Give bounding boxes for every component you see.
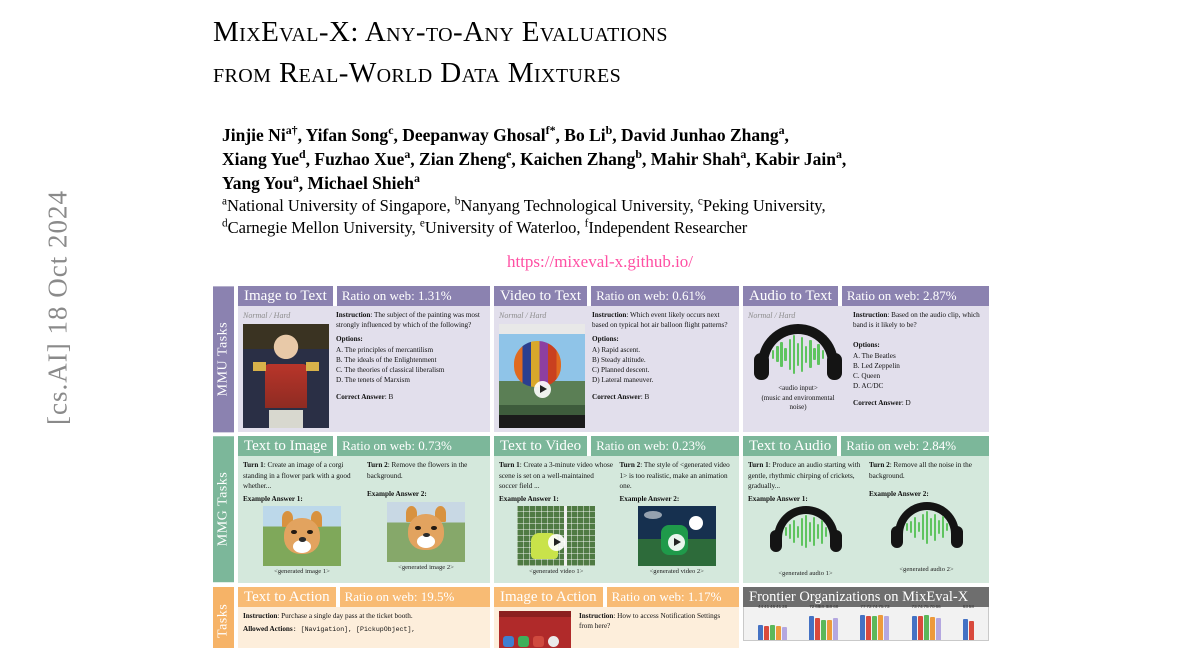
bar-wrap: 63 — [963, 610, 968, 640]
painting-image — [243, 324, 329, 428]
panel-title-text-to-action: Text to Action — [238, 587, 336, 607]
difficulty-label: Normal / Hard — [748, 310, 848, 321]
panel-text-to-action[interactable]: Text to Action Ratio on web: 19.5% Instr… — [238, 587, 490, 648]
play-icon[interactable] — [534, 381, 551, 398]
option-item: A. The principles of mercantilism — [336, 345, 485, 355]
panel-title-text-to-audio: Text to Audio — [743, 436, 837, 456]
bar-wrap: 74 — [872, 610, 877, 640]
panel-ratio-text-to-video: Ratio on web: 0.23% — [591, 436, 739, 456]
bar-wrap: 74 — [918, 610, 923, 640]
row-label-mmu: MMU Tasks — [213, 286, 234, 432]
panel-ratio-text-to-action: Ratio on web: 19.5% — [340, 587, 490, 607]
bar-value-label: 73 — [912, 605, 917, 610]
panel-frontier-organizations[interactable]: Frontier Organizations on MixEval-X 4441… — [743, 587, 989, 648]
option-item: C. The theories of classical liberalism — [336, 365, 485, 375]
generated-video-2[interactable] — [638, 506, 716, 566]
bar-value-label: 75 — [924, 605, 929, 610]
bar-wrap: 44 — [758, 610, 763, 640]
instruction-label: Instruction — [243, 612, 277, 620]
bar-wrap: 68 — [815, 610, 820, 640]
answer-text: : D — [902, 399, 911, 407]
panel-text-to-video[interactable]: Text to Video Ratio on web: 0.23% Turn 1… — [494, 436, 739, 582]
title-line-2: from Real-World Data Mixtures — [213, 53, 973, 94]
title-line-1: MixEval-X: Any-to-Any Evaluations — [213, 12, 973, 53]
row-label-mmg: MMG Tasks — [213, 436, 234, 582]
figure-row-agent: Tasks Text to Action Ratio on web: 19.5%… — [213, 587, 990, 648]
bar-value-label: 44 — [758, 605, 763, 610]
generated-image-1-caption: <generated image 1> — [243, 567, 361, 576]
panel-ratio-image-to-action: Ratio on web: 1.17% — [607, 587, 739, 607]
bar-wrap: 59 — [827, 610, 832, 640]
panel-title-audio-to-text: Audio to Text — [743, 286, 838, 306]
instruction-label: Instruction — [579, 612, 613, 620]
bar — [969, 621, 974, 640]
bar-group: 4441464138 — [758, 610, 787, 640]
generated-audio-1-caption: <generated audio 1> — [748, 569, 863, 578]
option-item: B) Steady altitude. — [592, 355, 734, 365]
bar-group: 7374757066 — [912, 610, 941, 640]
option-item: D. The tenets of Marxism — [336, 375, 485, 385]
allowed-actions-text: : [Navigation], [PickupObject], — [293, 626, 416, 633]
instruction-label: Instruction — [853, 311, 887, 319]
option-item: D. AC/DC — [853, 381, 984, 391]
bar-wrap: 72 — [866, 610, 871, 640]
figure-row-mmu: MMU Tasks Image to Text Ratio on web: 1.… — [213, 286, 990, 432]
author-line: Yang Youa, Michael Shieha — [222, 171, 982, 195]
bar — [878, 615, 883, 639]
panel-audio-to-text[interactable]: Audio to Text Ratio on web: 2.87% Normal… — [743, 286, 989, 432]
project-url-link[interactable]: https://mixeval-x.github.io/ — [0, 252, 1200, 272]
bar-value-label: 68 — [833, 605, 838, 610]
generated-video-1[interactable] — [517, 506, 595, 566]
bar-value-label: 72 — [866, 605, 871, 610]
bar-value-label: 66 — [936, 605, 941, 610]
bar-group: 7772747573 — [860, 610, 889, 640]
bar-wrap: 73 — [912, 610, 917, 640]
bar-group: 6358 — [963, 610, 974, 640]
panel-image-to-action[interactable]: Image to Action Ratio on web: 1.17% — [494, 587, 739, 648]
bar — [776, 626, 781, 639]
paper-page: [cs.AI] 18 Oct 2024 MixEval-X: Any-to-An… — [0, 0, 1200, 648]
allowed-actions-label: Allowed Actions — [243, 625, 293, 633]
panel-ratio-text-to-image: Ratio on web: 0.73% — [337, 436, 490, 456]
example-answer-1-label: Example Answer 1: — [499, 494, 614, 504]
bar-value-label: 63 — [963, 605, 968, 610]
bar — [884, 616, 889, 640]
generated-audio-2-caption: <generated audio 2> — [869, 565, 984, 574]
answer-text: : B — [385, 393, 394, 401]
option-item: A. The Beatles — [853, 351, 984, 361]
bar — [833, 618, 838, 640]
bar — [827, 620, 832, 639]
bar-value-label: 77 — [860, 605, 865, 610]
bar — [872, 616, 877, 640]
options-label: Options: — [853, 340, 984, 350]
bar — [758, 625, 763, 639]
author-line: Xiang Yued, Fuzhao Xuea, Zian Zhenge, Ka… — [222, 147, 982, 171]
bar-value-label: 46 — [770, 605, 775, 610]
bar-value-label: 74 — [918, 605, 923, 610]
video-thumbnail[interactable] — [499, 324, 585, 428]
turn1-label: Turn 1 — [243, 461, 264, 469]
bar — [815, 618, 820, 640]
bar — [809, 616, 814, 639]
bar-wrap: 41 — [764, 610, 769, 640]
figure-row-mmg: MMG Tasks Text to Image Ratio on web: 0.… — [213, 436, 990, 582]
generated-image-2-caption: <generated image 2> — [367, 563, 485, 572]
bar — [930, 617, 935, 640]
option-item: D) Lateral maneuver. — [592, 375, 734, 385]
example-answer-2-label: Example Answer 2: — [367, 489, 485, 499]
bar-value-label: 58 — [969, 605, 974, 610]
bar-value-label: 72 — [809, 605, 814, 610]
example-answer-1-label: Example Answer 1: — [243, 494, 361, 504]
bar — [770, 625, 775, 640]
panel-title-video-to-text: Video to Text — [494, 286, 587, 306]
bar — [912, 616, 917, 640]
turn2-label: Turn 2 — [620, 461, 641, 469]
frontier-bar-chart: 4441464138726859.55968777274757373747570… — [743, 607, 989, 641]
bar — [860, 615, 865, 640]
bar-wrap: 77 — [860, 610, 865, 640]
bar-wrap: 41 — [776, 610, 781, 640]
answer-label: Correct Answer — [592, 393, 641, 401]
panel-ratio-image-to-text: Ratio on web: 1.31% — [337, 286, 490, 306]
affiliation-line: dCarnegie Mellon University, eUniversity… — [222, 217, 982, 238]
bar-wrap: 72 — [809, 610, 814, 640]
generated-audio-2[interactable] — [888, 502, 966, 564]
panel-text-to-image[interactable]: Text to Image Ratio on web: 0.73% Turn 1… — [238, 436, 490, 582]
overview-figure: MMU Tasks Image to Text Ratio on web: 1.… — [213, 286, 990, 648]
turn2-label: Turn 2 — [869, 461, 890, 469]
page-title: MixEval-X: Any-to-Any Evaluations from R… — [213, 12, 973, 94]
bar-wrap: 59.5 — [821, 610, 826, 640]
difficulty-label: Normal / Hard — [499, 310, 587, 321]
bar — [963, 619, 968, 639]
panel-ratio-video-to-text: Ratio on web: 0.61% — [591, 286, 739, 306]
panel-video-to-text[interactable]: Video to Text Ratio on web: 0.61% Normal… — [494, 286, 739, 432]
answer-label: Correct Answer — [336, 393, 385, 401]
bar — [918, 616, 923, 640]
answer-label: Correct Answer — [853, 399, 902, 407]
bar-value-label: 59 — [827, 605, 832, 610]
bar — [936, 618, 941, 639]
turn1-label: Turn 1 — [748, 461, 769, 469]
phone-screenshot — [499, 611, 571, 648]
panel-title-text-to-image: Text to Image — [238, 436, 333, 456]
option-item: C) Planned descent. — [592, 365, 734, 375]
play-icon[interactable] — [548, 534, 565, 551]
example-answer-1-label: Example Answer 1: — [748, 494, 863, 504]
bar-value-label: 41 — [764, 605, 769, 610]
bar-wrap: 73 — [884, 610, 889, 640]
bar — [821, 620, 826, 639]
panel-text-to-audio[interactable]: Text to Audio Ratio on web: 2.84% Turn 1… — [743, 436, 989, 582]
answer-text: : B — [641, 393, 650, 401]
panel-title-image-to-text: Image to Text — [238, 286, 333, 306]
bar-value-label: 73 — [884, 605, 889, 610]
authors-block: Jinjie Nia†, Yifan Songc, Deepanway Ghos… — [222, 123, 982, 238]
bar-wrap: 75 — [878, 610, 883, 640]
bar — [866, 616, 871, 639]
generated-audio-1[interactable] — [767, 506, 845, 568]
difficulty-label: Normal / Hard — [243, 310, 331, 321]
instruction-label: Instruction — [336, 311, 370, 319]
option-item: C. Queen — [853, 371, 984, 381]
bar-value-label: 41 — [776, 605, 781, 610]
options-label: Options: — [592, 334, 734, 344]
option-item: B. The ideals of the Enlightenment — [336, 355, 485, 365]
turn2-label: Turn 2 — [367, 461, 388, 469]
bar — [924, 615, 929, 639]
bar-wrap: 70 — [930, 610, 935, 640]
bar-wrap: 38 — [782, 610, 787, 640]
generated-image-1 — [263, 506, 341, 566]
example-answer-2-label: Example Answer 2: — [620, 494, 735, 504]
bar-value-label: 38 — [782, 605, 787, 610]
headphones-waveform-icon: <audio input>(music and environmentalnoi… — [748, 324, 848, 412]
author-line: Jinjie Nia†, Yifan Songc, Deepanway Ghos… — [222, 123, 982, 147]
generated-video-1-caption: <generated video 1> — [499, 567, 614, 576]
bar-wrap: 58 — [969, 610, 974, 640]
generated-image-2 — [387, 502, 465, 562]
bar-wrap: 68 — [833, 610, 838, 640]
bar-value-label: 74 — [872, 605, 877, 610]
arxiv-stamp: [cs.AI] 18 Oct 2024 — [43, 128, 74, 488]
generated-video-2-caption: <generated video 2> — [620, 567, 735, 576]
bar-wrap: 66 — [936, 610, 941, 640]
options-label: Options: — [336, 334, 485, 344]
bar-wrap: 46 — [770, 610, 775, 640]
panel-ratio-text-to-audio: Ratio on web: 2.84% — [841, 436, 989, 456]
affiliation-line: aNational University of Singapore, bNany… — [222, 195, 982, 216]
example-answer-2-label: Example Answer 2: — [869, 489, 984, 499]
bar — [764, 626, 769, 639]
panel-image-to-text[interactable]: Image to Text Ratio on web: 1.31% Normal… — [238, 286, 490, 432]
panel-title-image-to-action: Image to Action — [494, 587, 603, 607]
bar-group: 726859.55968 — [809, 610, 838, 640]
instruction-text: : Purchase a single day pass at the tick… — [277, 612, 412, 620]
row-label-agent: Tasks — [213, 587, 234, 648]
bar-wrap: 75 — [924, 610, 929, 640]
panel-title-text-to-video: Text to Video — [494, 436, 587, 456]
option-item: A) Rapid ascent. — [592, 345, 734, 355]
option-item: B. Led Zeppelin — [853, 361, 984, 371]
bar — [782, 627, 787, 639]
instruction-label: Instruction — [592, 311, 626, 319]
bar-value-label: 75 — [878, 605, 883, 610]
play-icon[interactable] — [668, 534, 685, 551]
panel-ratio-audio-to-text: Ratio on web: 2.87% — [842, 286, 989, 306]
audio-caption: <audio input>(music and environmentalnoi… — [761, 384, 834, 412]
bar-value-label: 70 — [930, 605, 935, 610]
turn1-label: Turn 1 — [499, 461, 520, 469]
